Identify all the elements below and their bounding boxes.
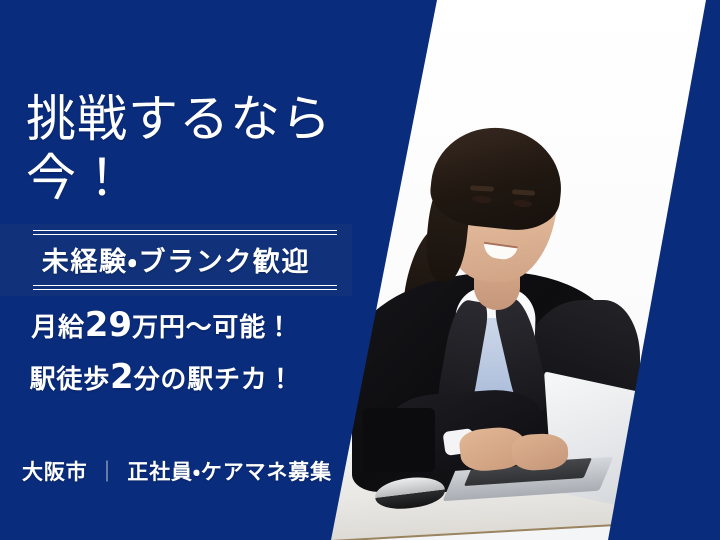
bullet-salary: 月給29万円～可能！ <box>0 305 324 345</box>
ribbon-rule-bottom <box>33 285 337 290</box>
text-content: 挑戦するなら 今！ 未経験・ブランク歓迎 月給29万円～可能！ 駅徒歩2分の駅チ… <box>0 0 440 540</box>
hand-right <box>511 433 569 472</box>
bullet-access-prefix: 駅徒歩 <box>30 365 110 395</box>
headline: 挑戦するなら 今！ <box>26 90 386 207</box>
ribbon-label: 未経験・ブランク歓迎 <box>0 235 352 285</box>
bullet-access-number: 2 <box>110 357 134 397</box>
bullet-salary-number: 29 <box>85 305 132 345</box>
highlight-ribbon: 未経験・ブランク歓迎 <box>0 224 352 296</box>
job-recruitment-banner: 挑戦するなら 今！ 未経験・ブランク歓迎 月給29万円～可能！ 駅徒歩2分の駅チ… <box>0 0 720 540</box>
bullet-salary-suffix: 万円～可能！ <box>132 313 293 343</box>
footer-separator: ｜ <box>97 456 119 486</box>
bullet-access-suffix: 分の駅チカ！ <box>134 365 295 395</box>
footer-caption: 大阪市 ｜ 正社員・ケアマネ募集 <box>22 456 332 486</box>
bullet-access: 駅徒歩2分の駅チカ！ <box>0 357 324 397</box>
footer-job: 正社員・ケアマネ募集 <box>127 456 332 486</box>
bullet-salary-prefix: 月給 <box>31 313 85 343</box>
footer-location: 大阪市 <box>22 456 88 486</box>
